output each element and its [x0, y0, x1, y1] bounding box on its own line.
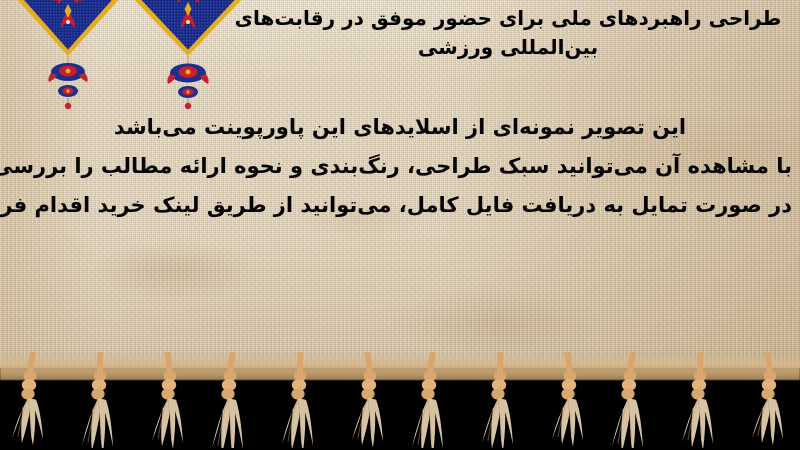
pendant-drop	[48, 56, 87, 109]
fringe-tassel	[341, 352, 393, 450]
slide-title: طراحی راهبردهای ملی برای حضور موفق در رق…	[228, 4, 788, 62]
fringe-tassel	[74, 352, 126, 450]
persian-medallion-pendant-icon	[8, 0, 128, 110]
fringe-tassel	[474, 352, 526, 450]
body-line-3: در صورت تمایل به دریافت فایل کامل، می‌تو…	[8, 186, 792, 225]
body-line-2: با مشاهده آن می‌توانید سبک طراحی، رنگ‌بن…	[8, 147, 792, 186]
fringe-tassel	[674, 352, 726, 450]
fringe-tassel	[141, 352, 193, 450]
fringe-tassel	[541, 352, 593, 450]
fringe-tassel	[7, 352, 59, 450]
carpet-knotted-fringe	[0, 352, 800, 450]
body-line-1: این تصویر نمونه‌ای از اسلایدهای این پاور…	[8, 108, 792, 147]
fringe-tassel	[607, 352, 659, 450]
pendant-drop-2	[167, 56, 208, 109]
fringe-tassel	[407, 352, 459, 450]
fringe-tassel	[741, 352, 793, 450]
slide-body: این تصویر نمونه‌ای از اسلایدهای این پاور…	[8, 108, 792, 225]
fringe-tassel	[207, 352, 259, 450]
fringe-tassel	[274, 352, 326, 450]
presentation-slide: طراحی راهبردهای ملی برای حضور موفق در رق…	[0, 0, 800, 450]
